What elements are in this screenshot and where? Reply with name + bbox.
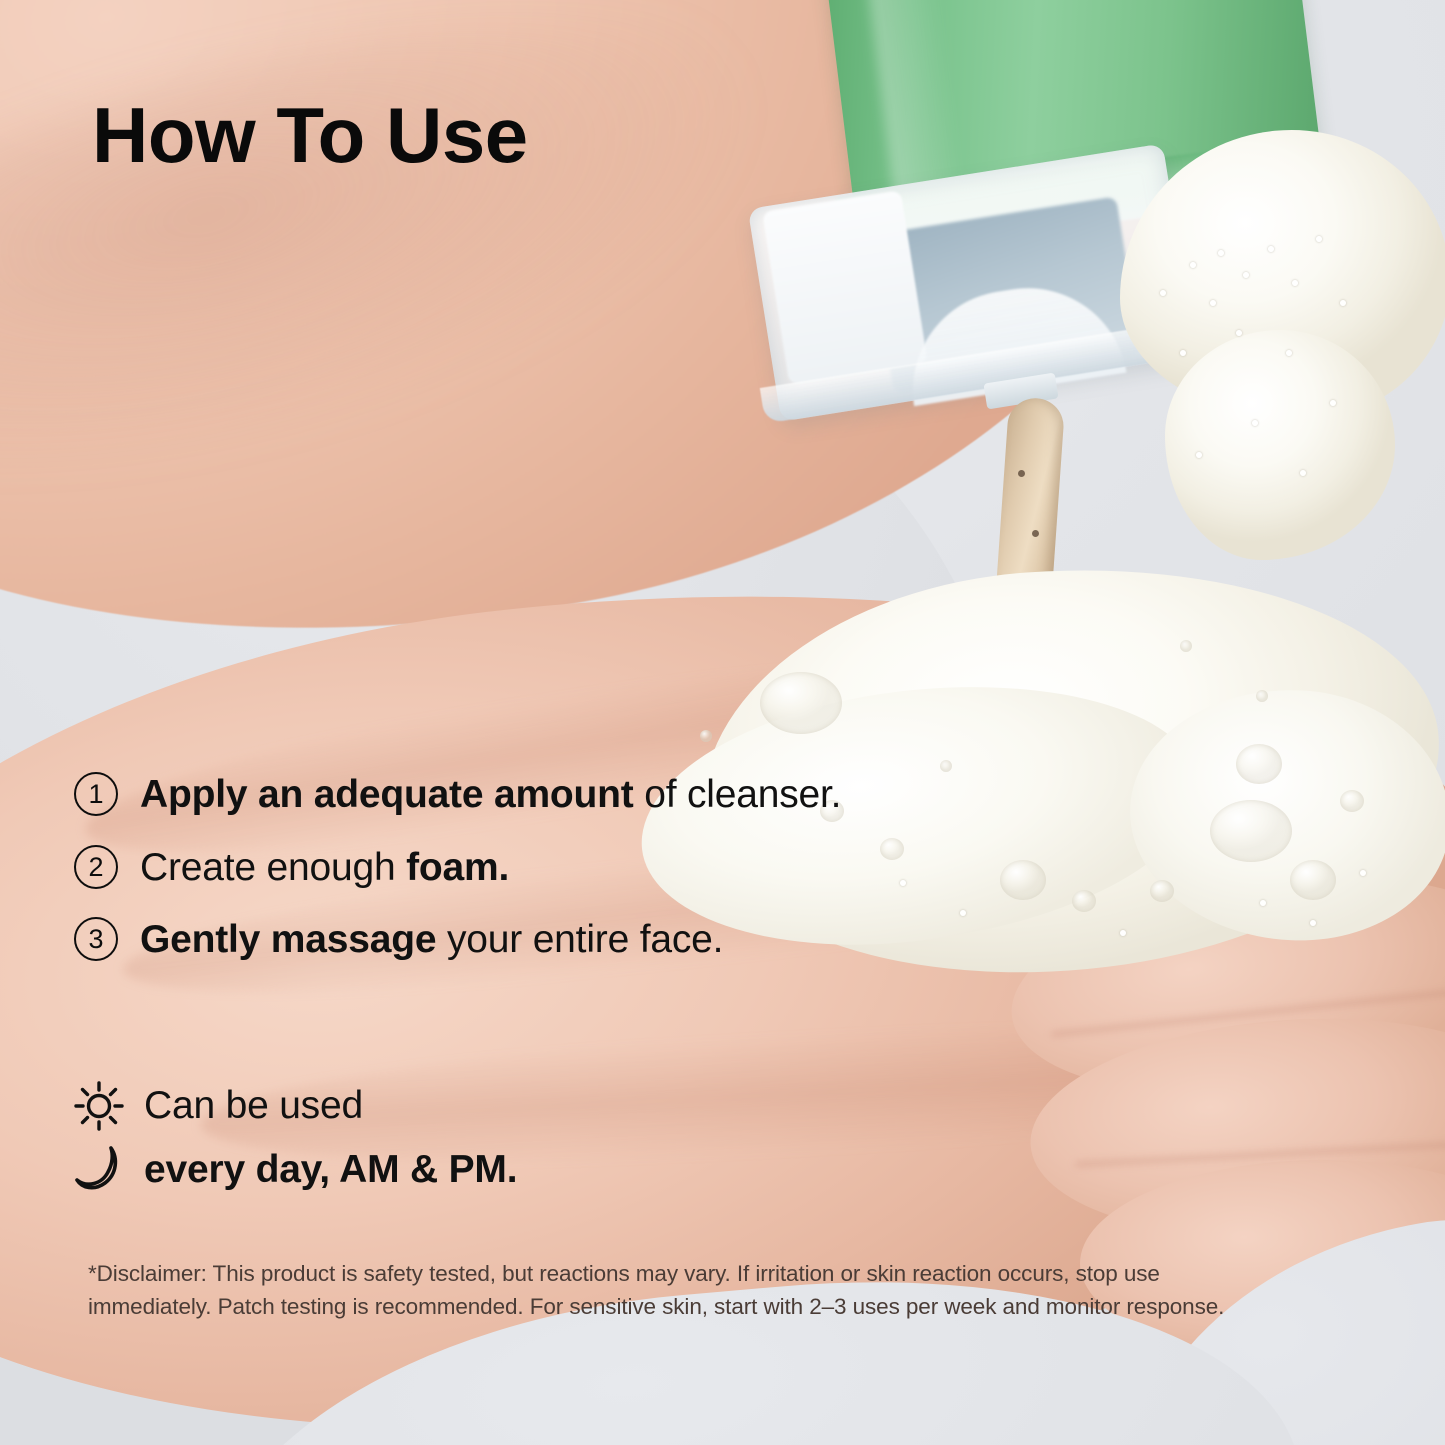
disclaimer-text: *Disclaimer: This product is safety test… bbox=[88, 1258, 1278, 1324]
moon-icon bbox=[68, 1142, 130, 1198]
usage-frequency-block: Can be used every day, AM & PM. bbox=[68, 1078, 517, 1206]
step-number-3: 3 bbox=[74, 917, 118, 961]
step-1: 1 Apply an adequate amount of cleanser. bbox=[74, 770, 1074, 821]
sun-icon bbox=[68, 1078, 130, 1134]
step-2-bold: foam. bbox=[406, 846, 509, 889]
step-1-text: Apply an adequate amount of cleanser. bbox=[140, 770, 841, 821]
step-number-1: 1 bbox=[74, 772, 118, 816]
usage-row-night: every day, AM & PM. bbox=[68, 1142, 517, 1198]
usage-night-label: every day, AM & PM. bbox=[144, 1147, 517, 1194]
usage-day-label: Can be used bbox=[144, 1083, 363, 1130]
step-3-text: Gently massage your entire face. bbox=[140, 915, 723, 966]
usage-row-day: Can be used bbox=[68, 1078, 517, 1134]
step-1-rest: of cleanser. bbox=[634, 773, 842, 816]
step-2-rest: Create enough bbox=[140, 846, 406, 889]
step-1-bold: Apply an adequate amount bbox=[140, 773, 634, 816]
text-overlay: How To Use 1 Apply an adequate amount of… bbox=[0, 0, 1445, 1445]
step-3-rest: your entire face. bbox=[436, 918, 723, 961]
step-3-bold: Gently massage bbox=[140, 918, 436, 961]
step-2: 2 Create enough foam. bbox=[74, 843, 1074, 894]
step-3: 3 Gently massage your entire face. bbox=[74, 915, 1074, 966]
steps-list: 1 Apply an adequate amount of cleanser. … bbox=[74, 770, 1074, 988]
how-to-use-product-graphic: How To Use 1 Apply an adequate amount of… bbox=[0, 0, 1445, 1445]
step-2-text: Create enough foam. bbox=[140, 843, 509, 894]
step-number-2: 2 bbox=[74, 845, 118, 889]
page-title: How To Use bbox=[92, 96, 528, 174]
